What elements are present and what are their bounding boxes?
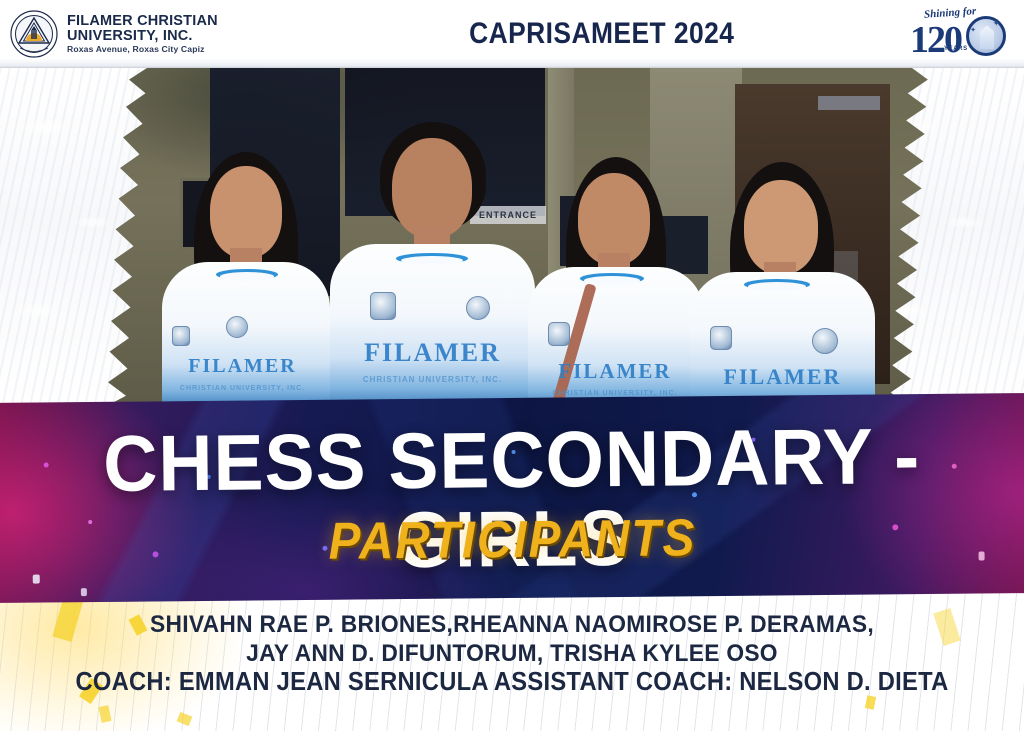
participants-coach-line: COACH: EMMAN JEAN SERNICULA ASSISTANT CO… <box>36 668 988 697</box>
university-name-line1: FILAMER CHRISTIAN <box>67 14 218 29</box>
sparkle-icon: ✦ <box>970 26 976 34</box>
student-photo-1: FILAMER CHRISTIAN UNIVERSITY, INC. <box>150 152 335 406</box>
team-photo: ENTRANCE FILAMER CHRISTIAN UNIVERSITY, I… <box>0 66 1024 406</box>
university-address: Roxas Avenue, Roxas City Capiz <box>67 45 218 54</box>
jersey-crest <box>812 328 838 354</box>
participants-list: SHIVAHN RAE P. BRIONES,RHEANNA NAOMIROSE… <box>0 610 1024 697</box>
header-anniversary: ✦ ✦ Shining for 120 YEARS <box>874 6 1024 62</box>
photo-door-sign-female-cr <box>818 96 880 110</box>
jersey-patch <box>370 292 396 320</box>
jersey-brand-text: FILAMER <box>330 338 535 368</box>
student-photo-2: FILAMER CHRISTIAN UNIVERSITY, INC. <box>330 122 535 406</box>
jersey-crest <box>226 316 248 338</box>
jersey-collar-inner <box>401 256 463 265</box>
jersey-patch <box>710 326 732 350</box>
participants-line-2: JAY ANN D. DIFUNTORUM, TRISHA KYLEE OSO <box>36 639 988 668</box>
jersey-collar-inner <box>584 276 640 285</box>
jersey-crest <box>466 296 490 320</box>
jersey-brand-text: FILAMER <box>690 364 875 390</box>
university-name-block: FILAMER CHRISTIAN UNIVERSITY, INC. Roxas… <box>67 14 218 54</box>
university-seal-icon <box>10 10 58 58</box>
jersey-sub-text: CHRISTIAN UNIVERSITY, INC. <box>330 375 535 384</box>
jersey-sub-text: CHRISTIAN UNIVERSITY, INC. <box>150 385 335 392</box>
event-title: CAPRISAMEET 2024 <box>469 17 734 51</box>
student-face <box>578 173 650 265</box>
banner-subtitle: PARTICIPANTS <box>34 509 991 570</box>
anniversary-years-label: YEARS <box>944 46 968 52</box>
title-banner: CHESS SECONDARY - GIRLS PARTICIPANTS <box>0 393 1024 603</box>
jersey-brand-text: FILAMER <box>520 359 710 384</box>
student-face <box>744 180 818 274</box>
student-face <box>392 138 472 238</box>
header-center: CAPRISAMEET 2024 <box>330 17 874 51</box>
jersey-brand-text: FILAMER <box>150 355 335 378</box>
participants-section: SHIVAHN RAE P. BRIONES,RHEANNA NAOMIROSE… <box>0 588 1024 731</box>
header-branding: FILAMER CHRISTIAN UNIVERSITY, INC. Roxas… <box>0 10 330 58</box>
student-photo-3: FILAMER CHRISTIAN UNIVERSITY, INC. <box>520 157 710 406</box>
poster-header: FILAMER CHRISTIAN UNIVERSITY, INC. Roxas… <box>0 0 1024 68</box>
jersey-patch <box>548 322 570 346</box>
participants-line-1: SHIVAHN RAE P. BRIONES,RHEANNA NAOMIROSE… <box>36 610 988 639</box>
sparkle-icon: ✦ <box>992 18 1000 29</box>
photo-background: ENTRANCE FILAMER CHRISTIAN UNIVERSITY, I… <box>0 66 1024 406</box>
event-poster: FILAMER CHRISTIAN UNIVERSITY, INC. Roxas… <box>0 0 1024 731</box>
student-face <box>210 166 282 258</box>
university-name-line2: UNIVERSITY, INC. <box>67 29 218 44</box>
jersey-collar-inner <box>220 272 274 281</box>
jersey-patch <box>172 326 190 346</box>
student-photo-4: FILAMER CHRISTIAN UNIVERSITY, INC. <box>690 162 875 406</box>
jersey-collar-inner <box>748 282 806 291</box>
anniversary-120-years-icon: ✦ ✦ Shining for 120 YEARS <box>898 6 1010 62</box>
anniversary-number: 120 <box>910 18 961 62</box>
